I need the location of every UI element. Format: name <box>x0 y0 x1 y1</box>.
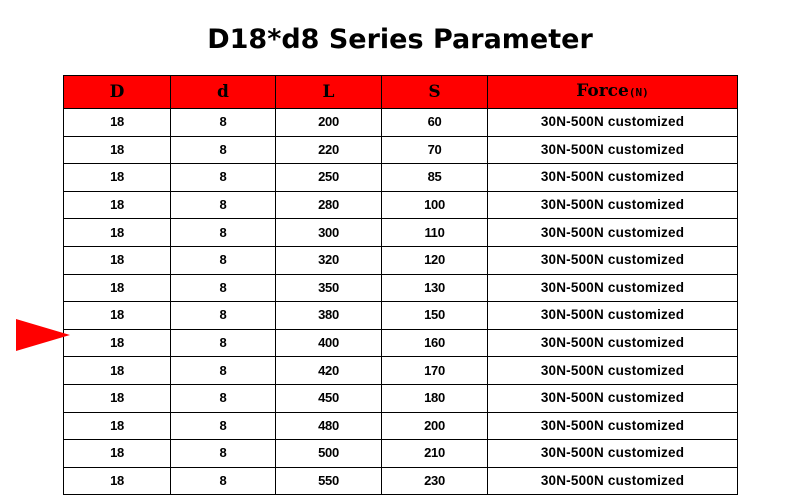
table-cell-d: 18 <box>64 164 171 192</box>
table-cell-d: 18 <box>64 467 171 495</box>
parameter-table-page: D18*d8 Series Parameter D d L S Force(N)… <box>0 0 800 498</box>
right-arrow-icon <box>16 317 70 353</box>
table-cell-d: 8 <box>171 384 276 412</box>
table-cell-l: 480 <box>276 412 382 440</box>
table-cell-l: 400 <box>276 329 382 357</box>
table-cell-force: 30N-500N customized <box>488 164 738 192</box>
table-header-row: D d L S Force(N) <box>64 76 738 109</box>
table-cell-force: 30N-500N customized <box>488 302 738 330</box>
table-cell-s: 110 <box>382 219 488 247</box>
table-cell-d: 8 <box>171 191 276 219</box>
table-row: 1882207030N-500N customized <box>64 136 738 164</box>
table-cell-d: 8 <box>171 440 276 468</box>
column-header-D: D <box>64 76 171 109</box>
table-row: 18855023030N-500N customized <box>64 467 738 495</box>
table-cell-d: 8 <box>171 246 276 274</box>
table-cell-force: 30N-500N customized <box>488 191 738 219</box>
table-cell-s: 150 <box>382 302 488 330</box>
table-cell-d: 18 <box>64 440 171 468</box>
table-cell-s: 70 <box>382 136 488 164</box>
table-cell-force: 30N-500N customized <box>488 467 738 495</box>
table-cell-force: 30N-500N customized <box>488 357 738 385</box>
table-body: 1882006030N-500N customized1882207030N-5… <box>64 109 738 495</box>
table-row: 1882006030N-500N customized <box>64 109 738 137</box>
table-cell-force: 30N-500N customized <box>488 136 738 164</box>
table-cell-d: 8 <box>171 164 276 192</box>
table-cell-l: 380 <box>276 302 382 330</box>
table-cell-d: 8 <box>171 302 276 330</box>
table-cell-s: 230 <box>382 467 488 495</box>
table-cell-force: 30N-500N customized <box>488 109 738 137</box>
table-row: 18832012030N-500N customized <box>64 246 738 274</box>
table-cell-d: 18 <box>64 274 171 302</box>
page-title: D18*d8 Series Parameter <box>0 24 800 56</box>
table-row: 18830011030N-500N customized <box>64 219 738 247</box>
table-cell-l: 280 <box>276 191 382 219</box>
table-cell-s: 85 <box>382 164 488 192</box>
table-cell-l: 250 <box>276 164 382 192</box>
table-row: 18838015030N-500N customized <box>64 302 738 330</box>
column-header-d: d <box>171 76 276 109</box>
table-row: 18842017030N-500N customized <box>64 357 738 385</box>
table-cell-l: 320 <box>276 246 382 274</box>
table-cell-s: 180 <box>382 384 488 412</box>
table-row: 18850021030N-500N customized <box>64 440 738 468</box>
table-cell-d: 18 <box>64 329 171 357</box>
table-row: 18828010030N-500N customized <box>64 191 738 219</box>
table-cell-d: 18 <box>64 109 171 137</box>
table-cell-s: 120 <box>382 246 488 274</box>
table-cell-d: 18 <box>64 384 171 412</box>
table-row: 18845018030N-500N customized <box>64 384 738 412</box>
table-cell-s: 200 <box>382 412 488 440</box>
table-cell-force: 30N-500N customized <box>488 440 738 468</box>
table-cell-d: 18 <box>64 136 171 164</box>
table-cell-l: 500 <box>276 440 382 468</box>
table-cell-force: 30N-500N customized <box>488 219 738 247</box>
column-header-force-label: Force <box>576 81 629 101</box>
table-cell-s: 60 <box>382 109 488 137</box>
table-cell-d: 18 <box>64 357 171 385</box>
table-cell-d: 8 <box>171 136 276 164</box>
table-cell-d: 8 <box>171 274 276 302</box>
table-cell-l: 550 <box>276 467 382 495</box>
table-cell-d: 18 <box>64 191 171 219</box>
table-cell-force: 30N-500N customized <box>488 412 738 440</box>
table-cell-l: 420 <box>276 357 382 385</box>
table-cell-s: 210 <box>382 440 488 468</box>
table-header: D d L S Force(N) <box>64 76 738 109</box>
table-cell-force: 30N-500N customized <box>488 329 738 357</box>
table-row: 1882508530N-500N customized <box>64 164 738 192</box>
series-parameter-table: D d L S Force(N) 1882006030N-500N custom… <box>63 75 738 495</box>
table-cell-s: 130 <box>382 274 488 302</box>
table-row: 18840016030N-500N customized <box>64 329 738 357</box>
table-cell-d: 8 <box>171 329 276 357</box>
column-header-force-unit: (N) <box>629 86 649 99</box>
table-cell-l: 220 <box>276 136 382 164</box>
table-cell-s: 170 <box>382 357 488 385</box>
column-header-L: L <box>276 76 382 109</box>
table-cell-l: 200 <box>276 109 382 137</box>
table-cell-d: 18 <box>64 302 171 330</box>
table-cell-l: 350 <box>276 274 382 302</box>
table-row: 18848020030N-500N customized <box>64 412 738 440</box>
table-cell-d: 8 <box>171 467 276 495</box>
table-cell-d: 18 <box>64 246 171 274</box>
table-cell-force: 30N-500N customized <box>488 246 738 274</box>
table-cell-d: 8 <box>171 412 276 440</box>
table-cell-d: 8 <box>171 219 276 247</box>
table-row: 18835013030N-500N customized <box>64 274 738 302</box>
table-cell-force: 30N-500N customized <box>488 384 738 412</box>
column-header-S: S <box>382 76 488 109</box>
table-cell-s: 160 <box>382 329 488 357</box>
column-header-force: Force(N) <box>488 76 738 109</box>
table-cell-d: 18 <box>64 219 171 247</box>
table-cell-l: 300 <box>276 219 382 247</box>
table-cell-l: 450 <box>276 384 382 412</box>
table-cell-d: 8 <box>171 109 276 137</box>
table-cell-force: 30N-500N customized <box>488 274 738 302</box>
table-cell-d: 8 <box>171 357 276 385</box>
table-cell-s: 100 <box>382 191 488 219</box>
table-cell-d: 18 <box>64 412 171 440</box>
